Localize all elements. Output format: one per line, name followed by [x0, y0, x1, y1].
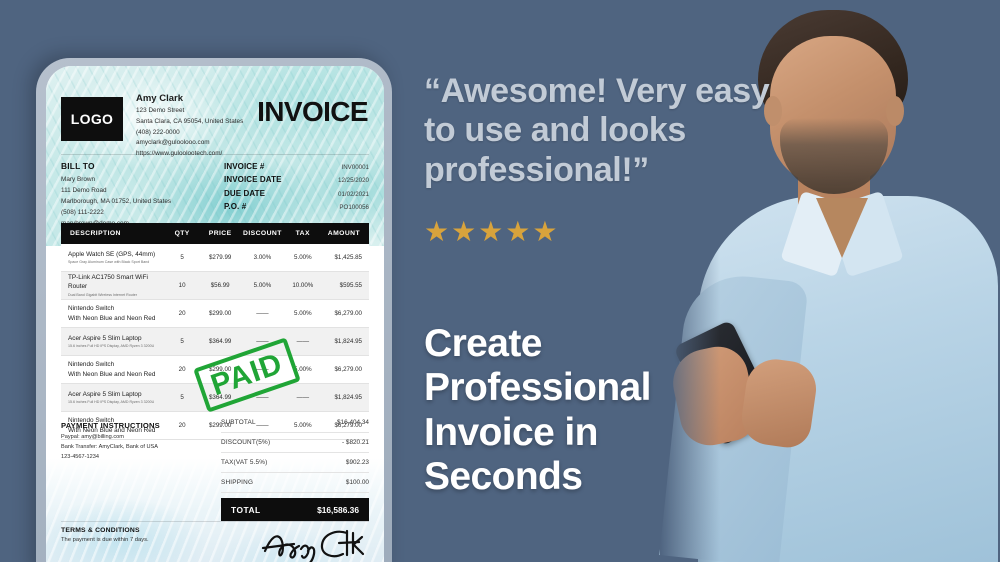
cell-price: $299.00 — [200, 310, 241, 317]
cell-description: Apple Watch SE (GPS, 44mm) Space Gray Al… — [61, 250, 165, 266]
column-header-discount: DISCOUNT — [241, 230, 284, 237]
bill-to-address-line: 111 Demo Road — [61, 185, 221, 196]
cell-tax: 10.00% — [284, 282, 322, 289]
payment-instructions: PAYMENT INSTRUCTIONS Paypal: amy@billing… — [61, 421, 211, 463]
totals-row: DISCOUNT(5%) - $820.21 — [221, 433, 369, 453]
meta-value: 01/02/2021 — [338, 191, 369, 198]
cell-tax: —— — [284, 338, 322, 345]
cell-qty: 20 — [165, 310, 200, 317]
cell-tax: 5.00% — [284, 310, 322, 317]
sender-block: Amy Clark 123 Demo Street Santa Clara, C… — [136, 93, 276, 160]
cell-qty: 5 — [165, 394, 200, 401]
payment-heading: PAYMENT INSTRUCTIONS — [61, 421, 211, 430]
cell-amount: $6,279.00 — [322, 366, 369, 373]
totals-value: - $820.21 — [342, 439, 369, 446]
cell-tax: 5.00% — [284, 254, 322, 261]
bill-to-block: BILL TO Mary Brown 111 Demo Road Marlbor… — [61, 161, 221, 229]
item-name: Nintendo Switch — [68, 304, 165, 313]
payment-bank-transfer: Bank Transfer: AmyClark, Bank of USA — [61, 443, 211, 453]
totals-value: $16,404.34 — [337, 419, 369, 426]
cell-qty: 5 — [165, 338, 200, 345]
grand-total-row: TOTAL $16,586.36 — [221, 498, 369, 521]
cell-description: Nintendo Switch With Neon Blue and Neon … — [61, 360, 165, 379]
terms-heading: TERMS & CONDITIONS — [61, 527, 251, 534]
column-header-amount: AMOUNT — [322, 230, 369, 237]
meta-row: INVOICE # INV00001 — [224, 162, 369, 171]
cell-discount: 5.00% — [241, 282, 284, 289]
table-row: TP-Link AC1750 Smart WiFi Router Dual Ba… — [61, 272, 369, 300]
meta-row: INVOICE DATE 12/25/2020 — [224, 175, 369, 184]
cell-amount: $595.55 — [322, 282, 369, 289]
totals-value: $902.23 — [346, 459, 369, 466]
promo-banner: “Awesome! Very easy to use and looks pro… — [0, 0, 1000, 562]
signature — [261, 521, 371, 562]
totals-row: SHIPPING $100.00 — [221, 473, 369, 493]
table-row: Acer Aspire 5 Slim Laptop 15.6 inches Fu… — [61, 328, 369, 356]
totals-row: TAX(VAT 5.5%) $902.23 — [221, 453, 369, 473]
cell-amount: $6,279.00 — [322, 310, 369, 317]
sender-phone: (408) 222-0000 — [136, 128, 276, 139]
cell-qty: 10 — [165, 282, 200, 289]
invoice-document: LOGO Amy Clark 123 Demo Street Santa Cla… — [46, 66, 384, 562]
headline: Create Professional Invoice in Seconds — [424, 322, 744, 500]
cell-description: Nintendo Switch With Neon Blue and Neon … — [61, 304, 165, 323]
meta-key: P.O. # — [224, 202, 246, 211]
sender-email: amyclark@guloolooo.com — [136, 138, 276, 149]
invoice-meta: INVOICE # INV00001 INVOICE DATE 12/25/20… — [224, 162, 369, 216]
person-ear-right — [886, 96, 904, 126]
totals-key: DISCOUNT(5%) — [221, 439, 270, 446]
item-name: Acer Aspire 5 Slim Laptop — [68, 390, 165, 399]
totals-key: SUBTOTAL — [221, 419, 256, 426]
column-header-tax: TAX — [284, 230, 322, 237]
payment-account-number: 123-4567-1234 — [61, 453, 211, 463]
star-rating-icon: ★★★★★ — [424, 218, 560, 246]
cell-amount: $1,824.95 — [322, 338, 369, 345]
totals-block: SUBTOTAL $16,404.34 DISCOUNT(5%) - $820.… — [221, 413, 369, 521]
meta-value: PO100056 — [339, 204, 369, 211]
column-header-qty: QTY — [165, 230, 200, 237]
cell-discount: 3.00% — [241, 254, 284, 261]
item-subtitle: 15.6 inches Full HD IPS Display, AMD Ryz… — [68, 344, 165, 349]
grand-total-value: $16,586.36 — [317, 505, 359, 515]
invoice-title: INVOICE — [257, 96, 368, 128]
column-header-description: DESCRIPTION — [61, 230, 165, 237]
item-subtitle: 15.6 inches Full HD IPS Display, AMD Ryz… — [68, 400, 165, 405]
cell-description: Acer Aspire 5 Slim Laptop 15.6 inches Fu… — [61, 390, 165, 406]
terms-block: TERMS & CONDITIONS The payment is due wi… — [61, 527, 251, 543]
cell-description: TP-Link AC1750 Smart WiFi Router Dual Ba… — [61, 273, 165, 298]
item-name: Nintendo Switch — [68, 360, 165, 369]
meta-key: INVOICE DATE — [224, 175, 282, 184]
cell-discount: —— — [241, 310, 284, 317]
cell-price: $56.99 — [200, 282, 241, 289]
cell-amount: $1,824.95 — [322, 394, 369, 401]
bill-to-name: Mary Brown — [61, 174, 221, 185]
header-divider — [61, 154, 369, 155]
meta-row: P.O. # PO100056 — [224, 202, 369, 211]
totals-key: SHIPPING — [221, 479, 253, 486]
totals-row: SUBTOTAL $16,404.34 — [221, 413, 369, 433]
cell-amount: $1,425.85 — [322, 254, 369, 261]
totals-key: TAX(VAT 5.5%) — [221, 459, 268, 466]
grand-total-label: TOTAL — [231, 505, 261, 515]
sender-address-line: 123 Demo Street — [136, 106, 276, 117]
item-name: Acer Aspire 5 Slim Laptop — [68, 334, 165, 343]
person-beard — [780, 118, 888, 194]
meta-key: DUE DATE — [224, 189, 265, 198]
item-name: Apple Watch SE (GPS, 44mm) — [68, 250, 165, 259]
cell-tax: —— — [284, 394, 322, 401]
table-row: Nintendo Switch With Neon Blue and Neon … — [61, 300, 369, 328]
meta-row: DUE DATE 01/02/2021 — [224, 189, 369, 198]
item-subtitle: With Neon Blue and Neon Red — [68, 370, 165, 379]
phone-screen: LOGO Amy Clark 123 Demo Street Santa Cla… — [46, 66, 384, 562]
terms-text: The payment is due within 7 days. — [61, 537, 251, 543]
totals-value: $100.00 — [346, 479, 369, 486]
item-subtitle: Dual Band Gigabit Wireless Internet Rout… — [68, 293, 165, 298]
cell-qty: 5 — [165, 254, 200, 261]
bill-to-heading: BILL TO — [61, 161, 221, 171]
item-subtitle: With Neon Blue and Neon Red — [68, 314, 165, 323]
table-row: Apple Watch SE (GPS, 44mm) Space Gray Al… — [61, 244, 369, 272]
cell-description: Acer Aspire 5 Slim Laptop 15.6 inches Fu… — [61, 334, 165, 350]
testimonial-quote: “Awesome! Very easy to use and looks pro… — [424, 72, 774, 190]
signature-icon — [261, 521, 371, 562]
meta-value: 12/25/2020 — [338, 177, 369, 184]
item-name: TP-Link AC1750 Smart WiFi Router — [68, 273, 165, 292]
sender-address-line: Santa Clara, CA 95054, United States — [136, 117, 276, 128]
cell-price: $364.99 — [200, 338, 241, 345]
cell-price: $279.99 — [200, 254, 241, 261]
bill-to-phone: (508) 111-2222 — [61, 207, 221, 218]
table-header-row: DESCRIPTION QTY PRICE DISCOUNT TAX AMOUN… — [61, 223, 369, 244]
item-subtitle: Space Gray Aluminum Case with Black Spor… — [68, 260, 165, 265]
column-header-price: PRICE — [200, 230, 241, 237]
meta-value: INV00001 — [341, 164, 369, 171]
company-logo: LOGO — [61, 97, 123, 141]
meta-key: INVOICE # — [224, 162, 264, 171]
payment-paypal: Paypal: amy@billing.com — [61, 433, 211, 443]
sender-name: Amy Clark — [136, 93, 276, 104]
bill-to-address-line: Marlborough, MA 01752, United States — [61, 196, 221, 207]
